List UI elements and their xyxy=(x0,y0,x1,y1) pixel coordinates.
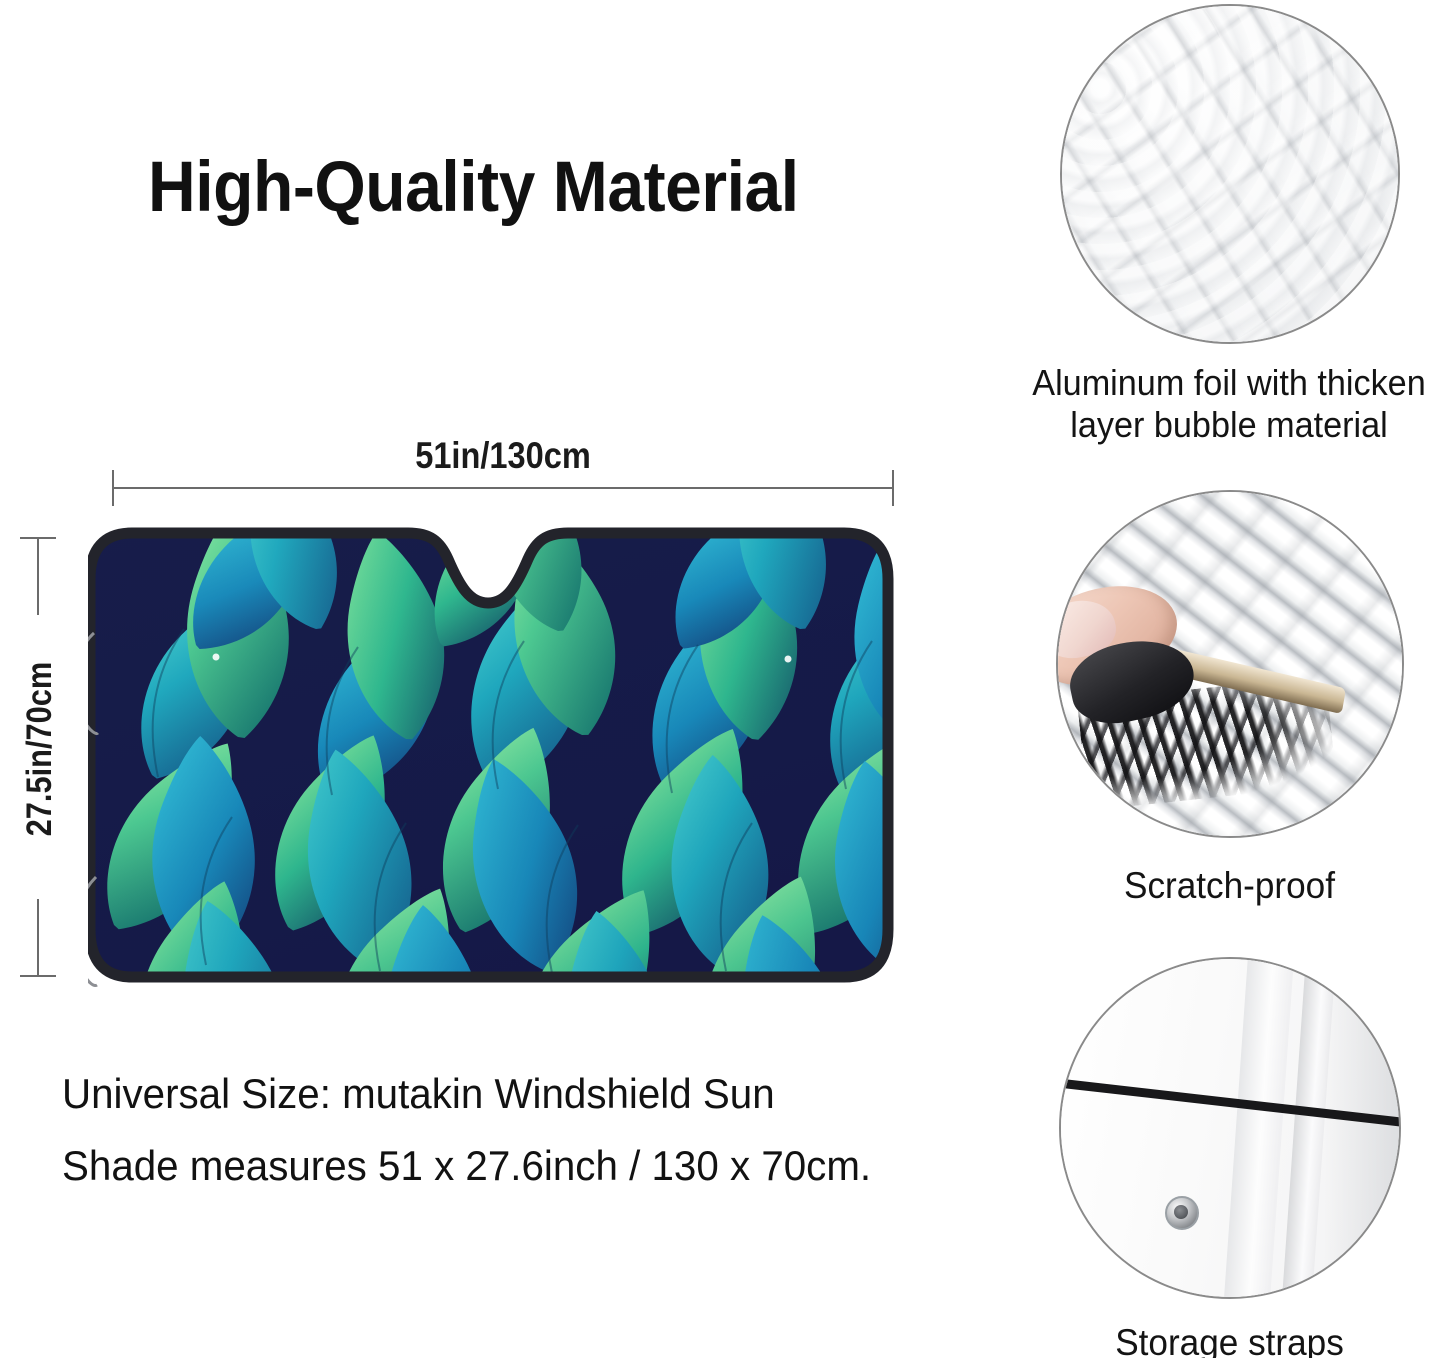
bubble-foil-texture-fill xyxy=(1060,4,1400,344)
feature-aluminum-foil: Aluminum foil with thicken layer bubble … xyxy=(1018,4,1441,446)
sunshade-illustration xyxy=(88,525,918,990)
height-dimension-cap-bottom xyxy=(20,975,56,977)
feature-aluminum-foil-caption: Aluminum foil with thicken layer bubble … xyxy=(1006,362,1441,446)
height-dimension-segment-top xyxy=(37,537,39,615)
width-dimension-cap-right xyxy=(892,470,894,506)
storage-strap-icon xyxy=(1059,957,1401,1299)
snap-button-icon xyxy=(1165,1196,1199,1230)
feature-storage-straps: Storage straps xyxy=(1018,957,1441,1358)
rolled-shade-shadow xyxy=(1324,957,1400,1299)
width-dimension-line xyxy=(112,487,894,489)
width-dimension-label: 51in/130cm xyxy=(159,435,847,477)
suction-dot-left xyxy=(213,654,220,661)
height-dimension-label: 27.5in/70cm xyxy=(20,621,60,876)
height-dimension-segment-bottom xyxy=(37,899,39,977)
feature-caption-line-1: Storage straps xyxy=(1029,1321,1431,1358)
bubble-foil-texture-icon xyxy=(1060,4,1400,344)
feature-scratch-proof-caption: Scratch-proof xyxy=(1029,864,1431,907)
feature-caption-line-2: layer bubble material xyxy=(1006,404,1441,446)
height-dimension-line: 27.5in/70cm xyxy=(37,537,39,977)
feature-caption-line-1: Scratch-proof xyxy=(1029,864,1431,907)
scratch-test-icon xyxy=(1056,490,1404,838)
suction-dot-right xyxy=(785,656,792,663)
feature-scratch-proof: Scratch-proof xyxy=(1018,490,1441,907)
width-dimension-cap-left xyxy=(112,470,114,506)
size-caption-line-1: Universal Size: mutakin Windshield Sun xyxy=(62,1058,998,1130)
feature-caption-line-1: Aluminum foil with thicken xyxy=(1006,362,1441,404)
feature-storage-straps-caption: Storage straps xyxy=(1029,1321,1431,1358)
height-dimension-cap-top xyxy=(20,537,56,539)
infographic-page: High-Quality Material 51in/130cm 27.5in/… xyxy=(0,0,1441,1358)
page-title: High-Quality Material xyxy=(148,152,855,224)
size-caption: Universal Size: mutakin Windshield Sun S… xyxy=(62,1058,998,1202)
product-image-sunshade xyxy=(88,525,918,990)
size-caption-line-2: Shade measures 51 x 27.6inch / 130 x 70c… xyxy=(62,1130,998,1202)
